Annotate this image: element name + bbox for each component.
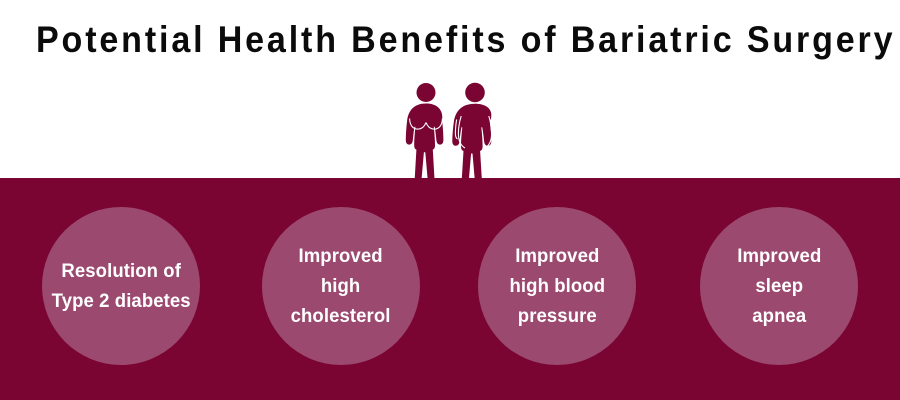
benefit-circle-type-2-diabetes[interactable]: Resolution of Type 2 diabetes bbox=[42, 207, 200, 365]
page-title: Potential Health Benefits of Bariatric S… bbox=[36, 18, 864, 62]
benefit-circle-high-blood-pressure[interactable]: Improved high blood pressure bbox=[478, 207, 636, 365]
benefit-label: Improved high blood pressure bbox=[509, 241, 605, 331]
female-figure bbox=[406, 83, 444, 181]
overweight-couple-icon bbox=[395, 82, 515, 182]
benefit-label: Resolution of Type 2 diabetes bbox=[51, 256, 190, 316]
benefit-label: Improved sleep apnea bbox=[737, 241, 821, 331]
benefit-circle-high-cholesterol[interactable]: Improved high cholesterol bbox=[262, 207, 420, 365]
infographic-canvas: Potential Health Benefits of Bariatric S… bbox=[0, 0, 900, 400]
benefits-band: Resolution of Type 2 diabetes Improved h… bbox=[0, 178, 900, 400]
benefit-label: Improved high cholesterol bbox=[291, 241, 391, 331]
benefit-circle-sleep-apnea[interactable]: Improved sleep apnea bbox=[700, 207, 858, 365]
